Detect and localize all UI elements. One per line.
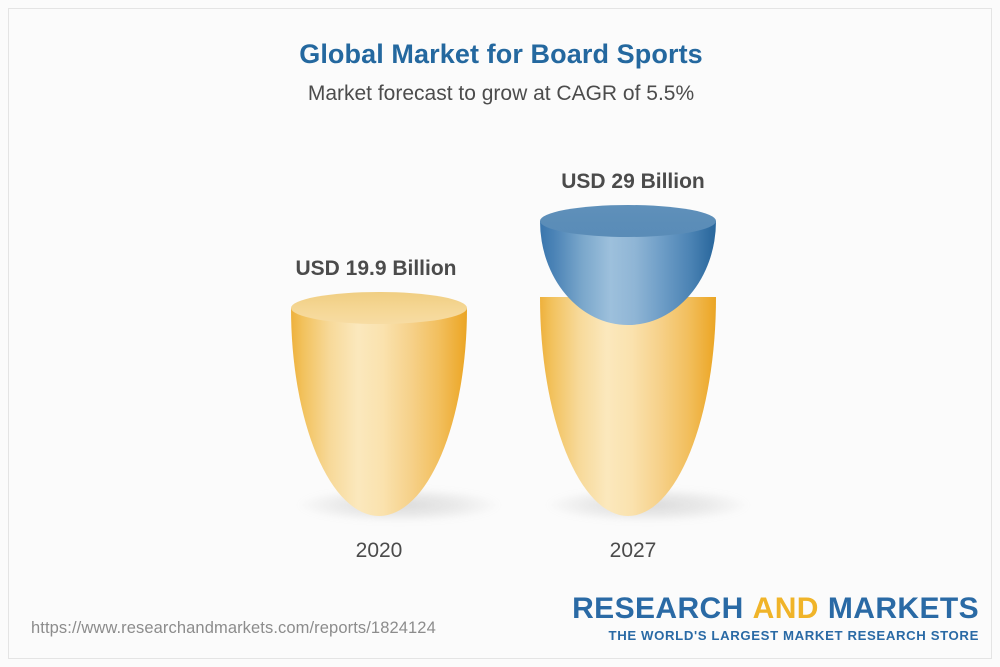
brand-logo[interactable]: RESEARCHANDMARKETS THE WORLD'S LARGEST M… xyxy=(572,594,979,642)
logo-word-markets: MARKETS xyxy=(828,592,979,625)
bar-cylinder-2027[interactable] xyxy=(540,205,716,516)
bar-body-yellow-2027 xyxy=(540,297,716,516)
infographic-root: Global Market for Board Sports Market fo… xyxy=(0,0,1000,667)
logo-word-research: RESEARCH xyxy=(572,592,744,625)
bar-segment-yellow-2027 xyxy=(540,297,716,516)
bar-segment-blue-2027 xyxy=(540,205,716,325)
bar-category-label-2020: 2020 xyxy=(249,539,509,563)
logo-tagline: THE WORLD'S LARGEST MARKET RESEARCH STOR… xyxy=(572,629,979,642)
logo-word-and: AND xyxy=(753,592,819,625)
bar-top-cap-blue-2027 xyxy=(540,205,716,237)
bar-segment-yellow-2020 xyxy=(291,292,467,516)
chart-plot-area: USD 19.9 Billion 2020 USD 29 Billion xyxy=(9,9,992,659)
logo-wordmark: RESEARCHANDMARKETS xyxy=(572,594,979,624)
bar-category-label-2027: 2027 xyxy=(503,539,763,563)
bar-cylinder-2020[interactable] xyxy=(291,292,467,516)
bar-value-label-2027: USD 29 Billion xyxy=(503,170,763,194)
infographic-frame: Global Market for Board Sports Market fo… xyxy=(8,8,992,659)
bar-body-yellow-2020 xyxy=(291,308,467,516)
report-url[interactable]: https://www.researchandmarkets.com/repor… xyxy=(31,619,436,638)
bar-top-cap-yellow-2020 xyxy=(291,292,467,324)
bar-value-label-2020: USD 19.9 Billion xyxy=(246,257,506,281)
